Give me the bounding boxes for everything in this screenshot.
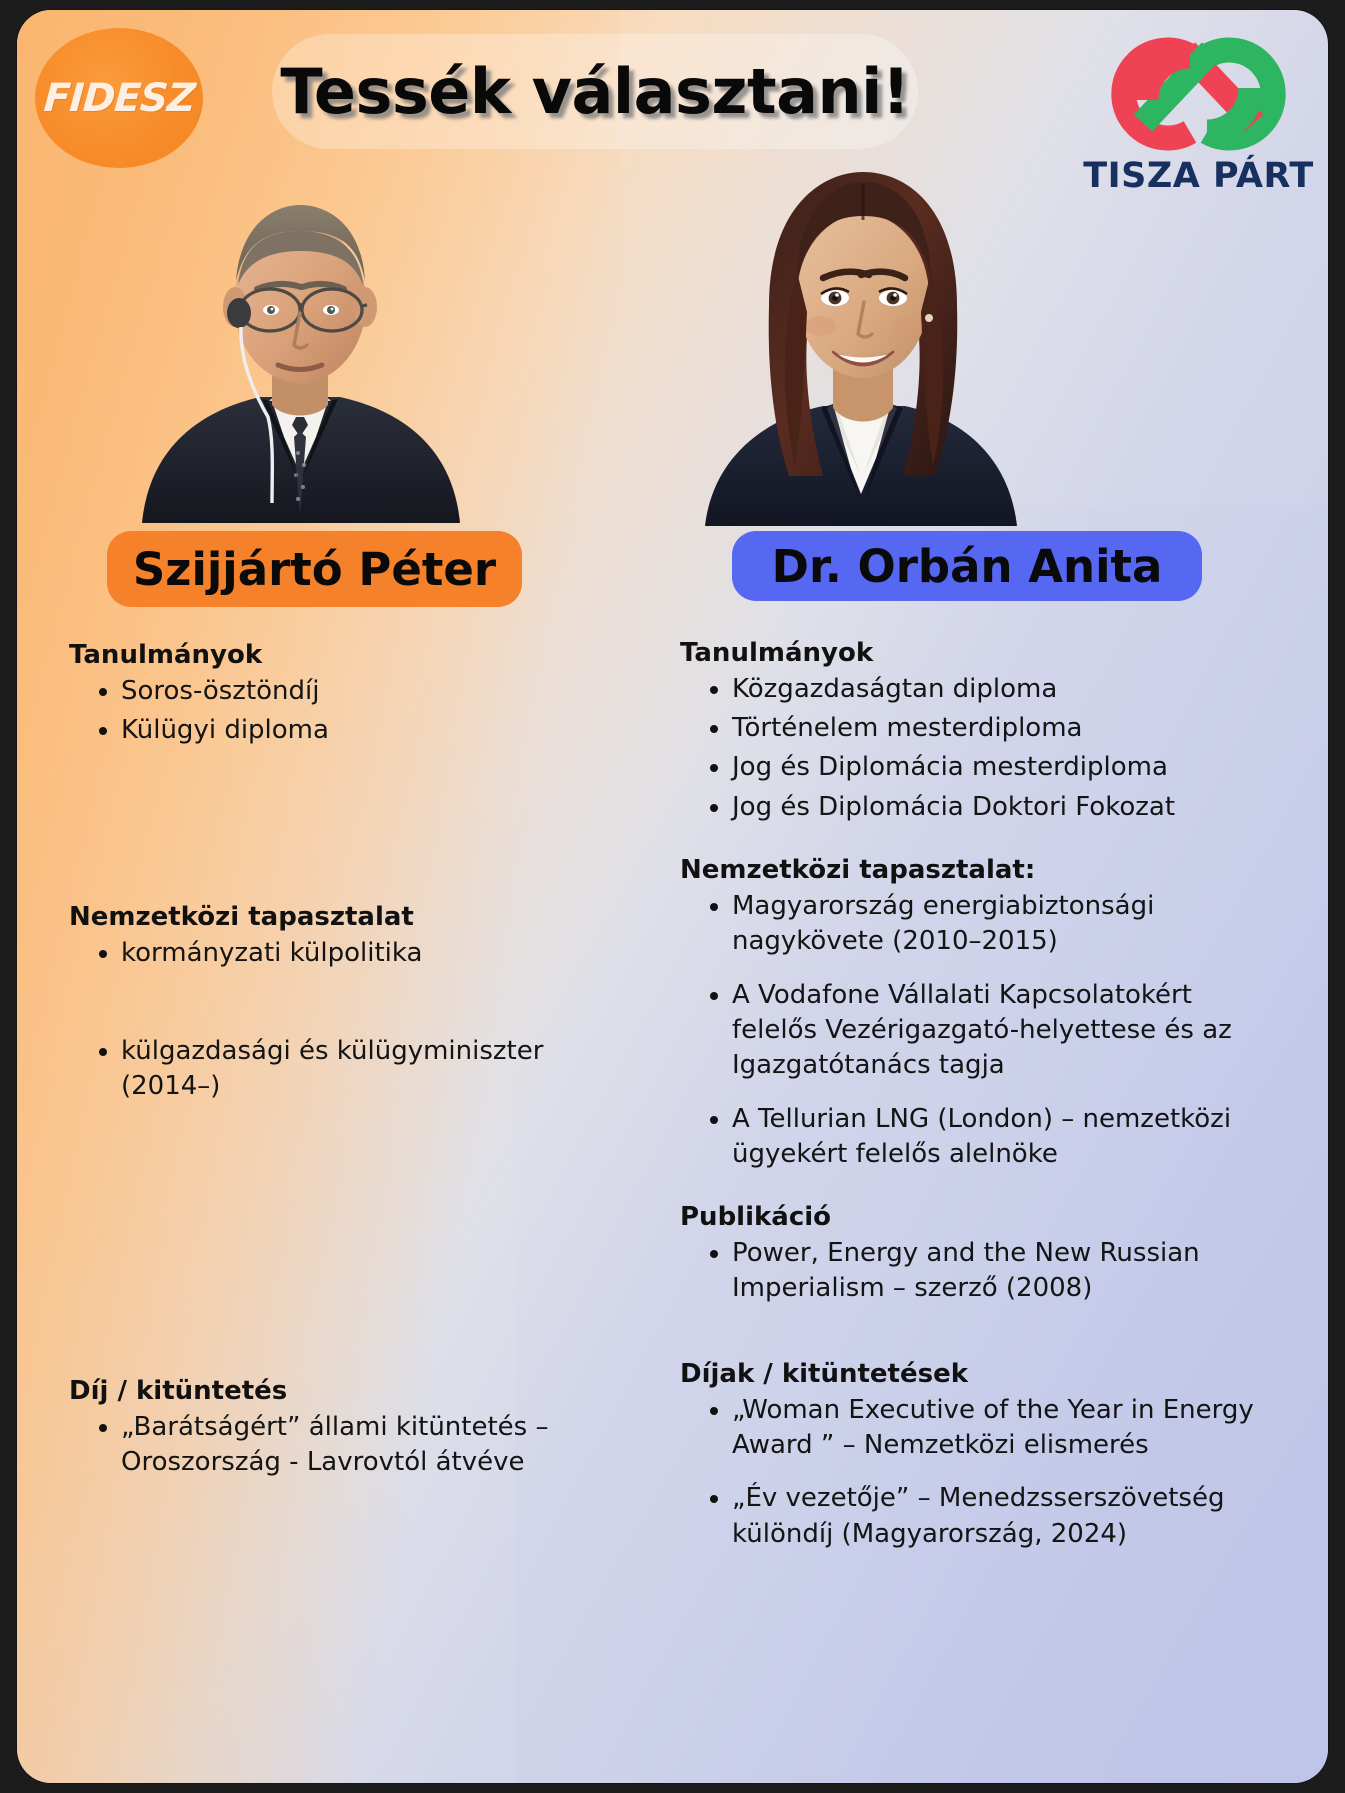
section-list: külgazdasági és külügyminiszter (2014–) [69, 1034, 597, 1105]
tisza-infinity-icon [1086, 28, 1311, 160]
list-item: Jog és Diplomácia mesterdiploma [680, 750, 1260, 785]
section-heading: Publikáció [680, 1202, 1260, 1234]
fidesz-logo: FIDESZ [35, 28, 203, 168]
section-list: A Tellurian LNG (London) – nemzetközi üg… [680, 1102, 1260, 1173]
section-heading: Díj / kitüntetés [69, 1376, 597, 1408]
spacer [69, 976, 597, 1034]
section-heading: Nemzetközi tapasztalat [69, 902, 597, 934]
section-list: kormányzati külpolitika [69, 936, 597, 971]
section-list: Power, Energy and the New Russian Imperi… [680, 1236, 1260, 1307]
section-left-0: Tanulmányok Soros-ösztöndíj Külügyi dipl… [69, 640, 597, 748]
section-heading: Tanulmányok [680, 638, 1260, 670]
list-item: A Tellurian LNG (London) – nemzetközi üg… [680, 1102, 1260, 1173]
section-list: Közgazdaságtan diploma Történelem mester… [680, 672, 1260, 825]
spacer [69, 1108, 597, 1376]
section-left-1: Nemzetközi tapasztalat kormányzati külpo… [69, 902, 597, 1104]
section-list: A Vodafone Vállalati Kapcsolatokért fele… [680, 978, 1260, 1084]
column-left: Tanulmányok Soros-ösztöndíj Külügyi dipl… [69, 640, 597, 1485]
list-item: Power, Energy and the New Russian Imperi… [680, 1236, 1260, 1307]
spacer [69, 752, 597, 902]
name-banner-right: Dr. Orbán Anita [732, 531, 1202, 601]
list-item: Történelem mesterdiploma [680, 711, 1260, 746]
spacer [680, 964, 1260, 978]
spacer [680, 1467, 1260, 1481]
section-list: Magyarország energiabiztonsági nagykövet… [680, 889, 1260, 960]
list-item: Soros-ösztöndíj [69, 674, 597, 709]
name-left: Szijjártó Péter [133, 543, 496, 596]
spacer [680, 829, 1260, 855]
list-item: A Vodafone Vállalati Kapcsolatokért fele… [680, 978, 1260, 1084]
name-right: Dr. Orbán Anita [772, 540, 1163, 593]
section-left-2: Díj / kitüntetés „Barátságért” állami ki… [69, 1376, 597, 1480]
portrait-orban-anita [657, 146, 1047, 526]
spacer [680, 1311, 1260, 1359]
list-item: „Év vezetője” – Menedzsserszövetség külö… [680, 1481, 1260, 1552]
list-item: „Barátságért” állami kitüntetés – Oroszo… [69, 1410, 597, 1481]
section-right-0: Tanulmányok Közgazdaságtan diploma Törté… [680, 638, 1260, 825]
section-right-1: Nemzetközi tapasztalat: Magyarország ene… [680, 855, 1260, 1172]
section-list: Soros-ösztöndíj Külügyi diploma [69, 674, 597, 749]
spacer [680, 1088, 1260, 1102]
section-right-2: Publikáció Power, Energy and the New Rus… [680, 1202, 1260, 1306]
fidesz-logo-text: FIDESZ [42, 76, 196, 121]
section-heading: Nemzetközi tapasztalat: [680, 855, 1260, 887]
section-right-3: Díjak / kitüntetések „Woman Executive of… [680, 1359, 1260, 1552]
list-item: kormányzati külpolitika [69, 936, 597, 971]
poster-card: FIDESZ Tessék választani! TISZA PÁRT [17, 10, 1328, 1783]
list-item: Jog és Diplomácia Doktori Fokozat [680, 790, 1260, 825]
tisza-logo: TISZA PÁRT [1081, 28, 1316, 196]
list-item: Magyarország energiabiztonsági nagykövet… [680, 889, 1260, 960]
list-item: „Woman Executive of the Year in Energy A… [680, 1393, 1260, 1464]
tisza-logo-text: TISZA PÁRT [1081, 156, 1316, 196]
list-item: Külügyi diploma [69, 713, 597, 748]
page-title: Tessék választani! [272, 34, 918, 149]
column-right: Tanulmányok Közgazdaságtan diploma Törté… [680, 638, 1260, 1556]
section-heading: Díjak / kitüntetések [680, 1359, 1260, 1391]
section-list: „Barátságért” állami kitüntetés – Oroszo… [69, 1410, 597, 1481]
section-list: „Év vezetője” – Menedzsserszövetség külö… [680, 1481, 1260, 1552]
portrait-szijjarto-peter [122, 173, 477, 523]
list-item: külgazdasági és külügyminiszter (2014–) [69, 1034, 597, 1105]
name-banner-left: Szijjártó Péter [107, 531, 522, 607]
section-list: „Woman Executive of the Year in Energy A… [680, 1393, 1260, 1464]
section-heading: Tanulmányok [69, 640, 597, 672]
spacer [680, 1176, 1260, 1202]
list-item: Közgazdaságtan diploma [680, 672, 1260, 707]
